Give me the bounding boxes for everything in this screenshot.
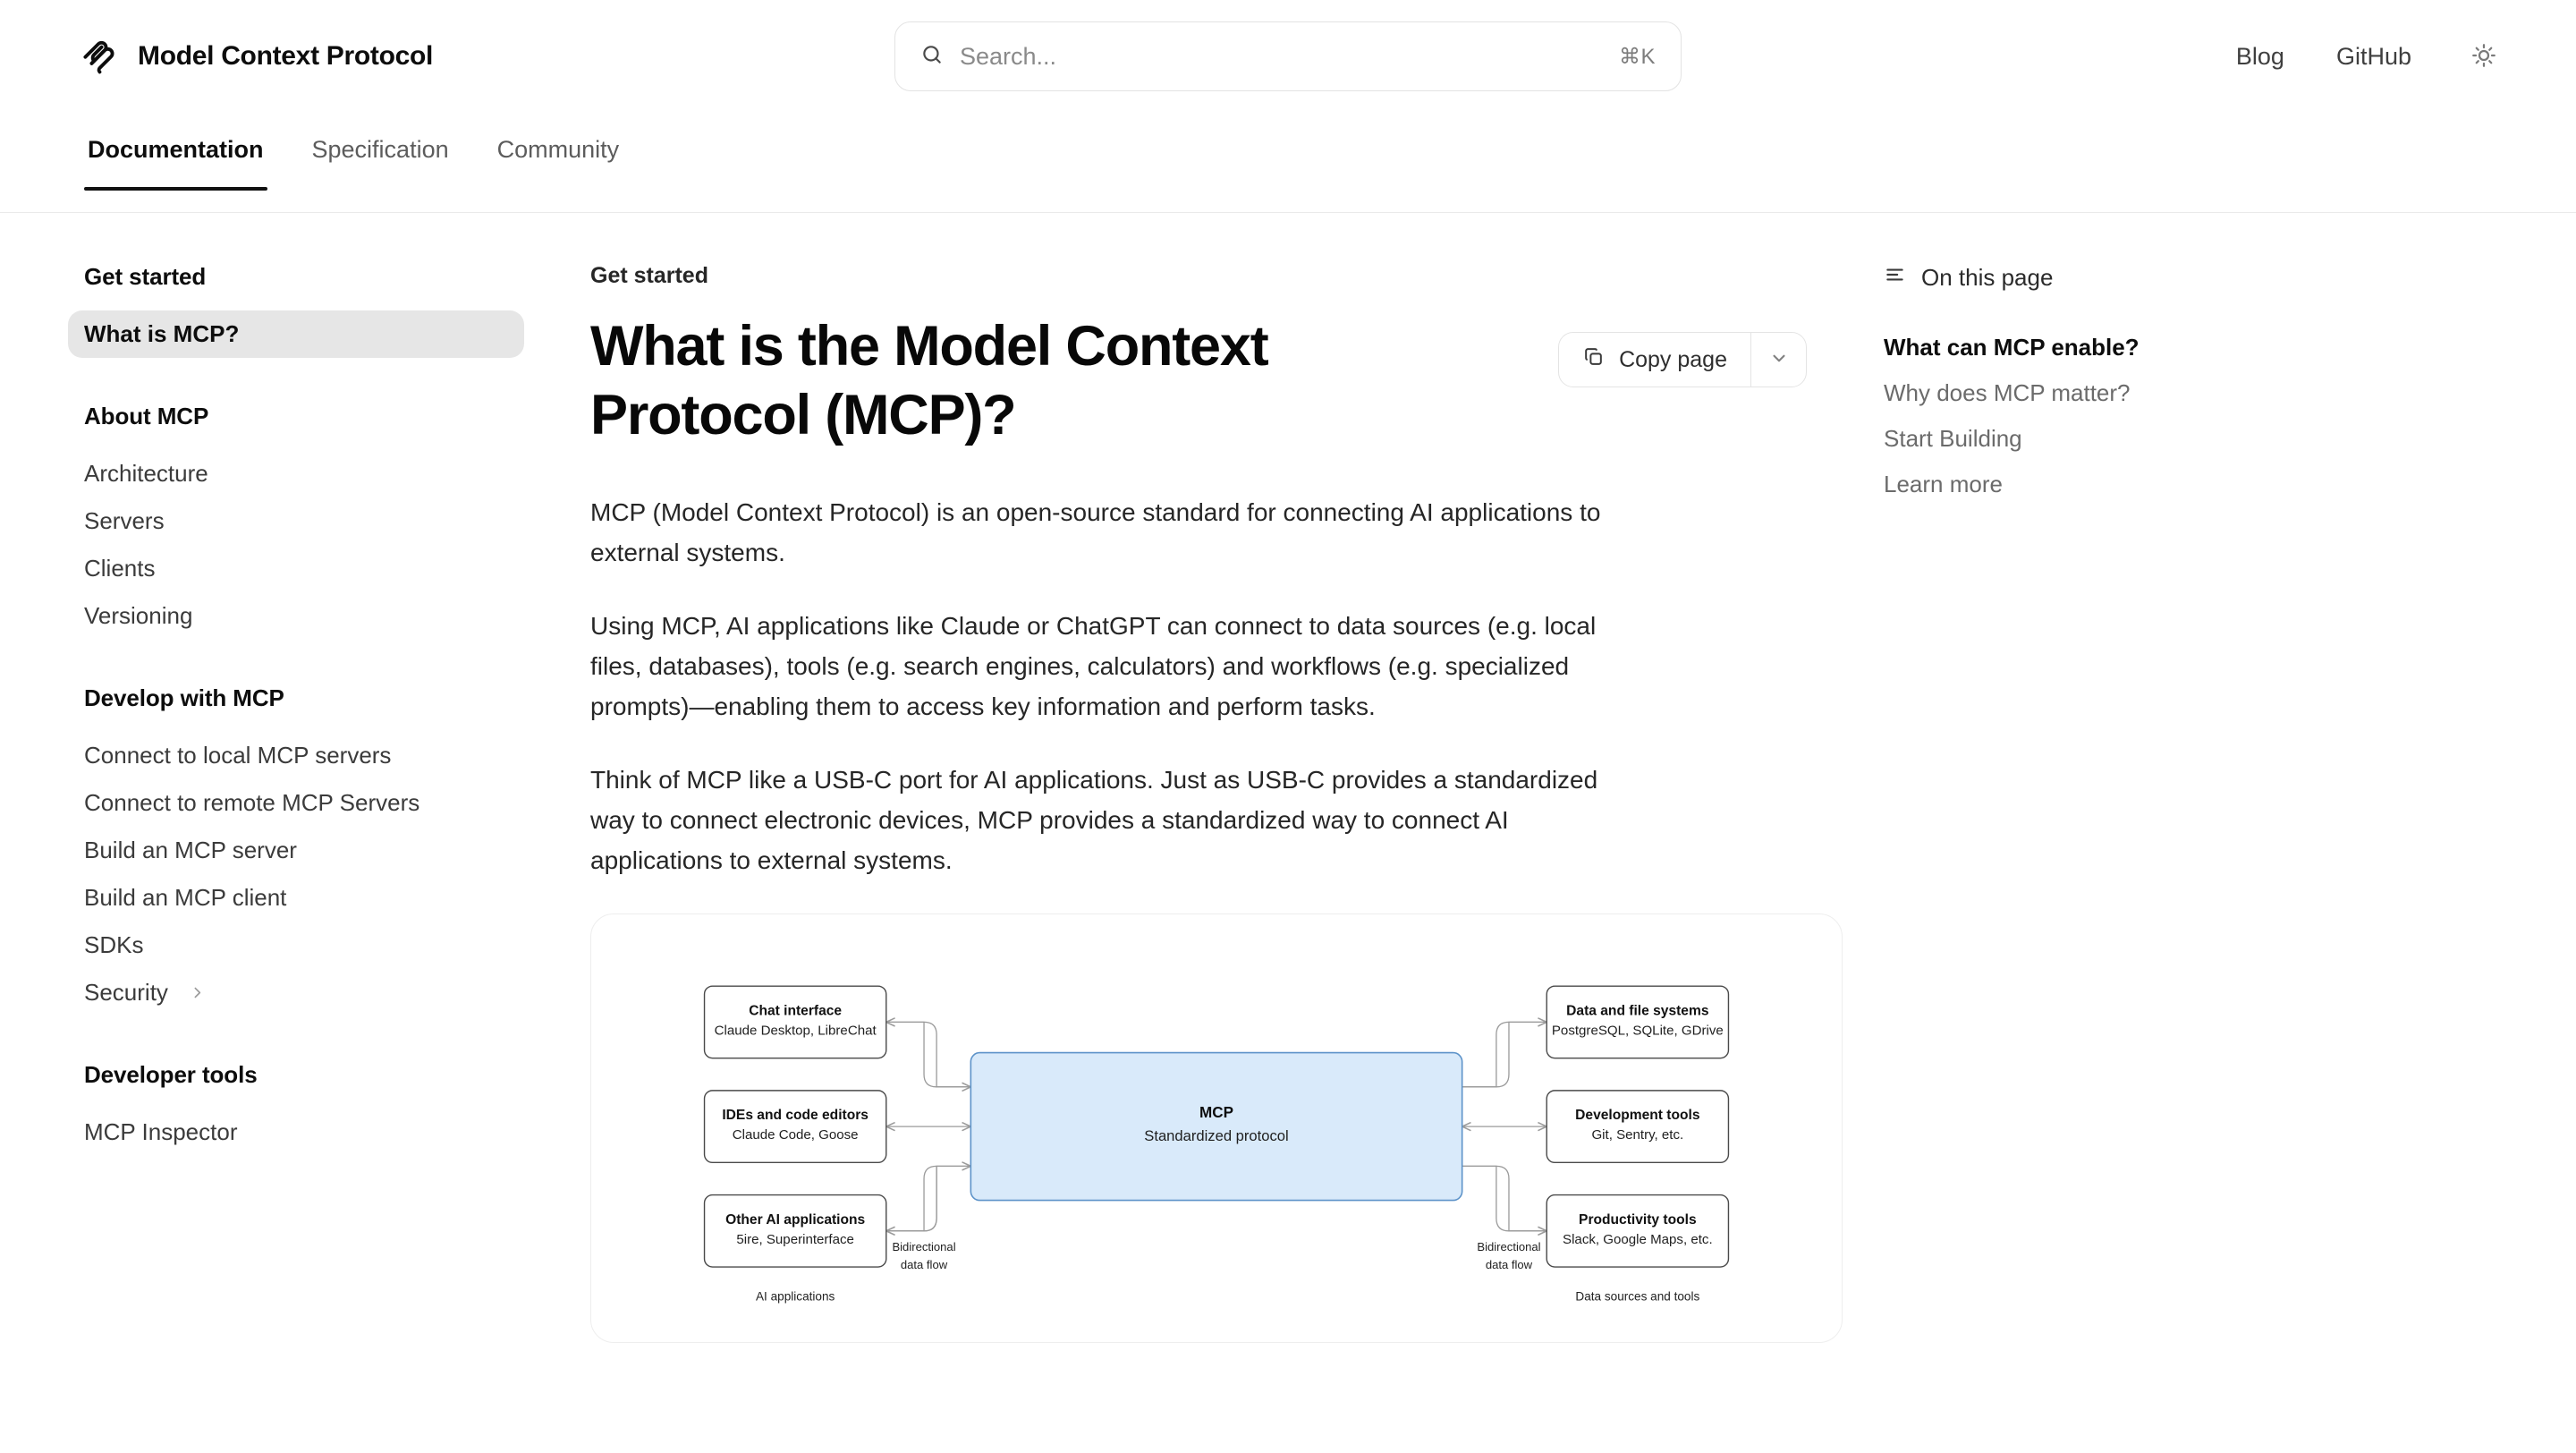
- main-content: Get started What is the Model Context Pr…: [590, 263, 1860, 1453]
- search-input[interactable]: [960, 43, 1603, 71]
- search-box[interactable]: ⌘K: [894, 21, 1682, 91]
- diagram-right-caption: Data sources and tools: [1575, 1289, 1699, 1303]
- mcp-logo-icon: [80, 36, 122, 77]
- diagram-left-box-1: Chat interface Claude Desktop, LibreChat: [705, 986, 886, 1058]
- copy-page-button[interactable]: Copy page: [1559, 333, 1750, 387]
- flow-label-right-line2: data flow: [1486, 1258, 1533, 1271]
- sidebar-item-security[interactable]: Security: [68, 969, 555, 1016]
- diagram-left-box-2: IDEs and code editors Claude Code, Goose: [705, 1091, 886, 1162]
- diagram-right-box-3: Productivity tools Slack, Google Maps, e…: [1546, 1194, 1728, 1266]
- theme-toggle-button[interactable]: [2463, 36, 2504, 77]
- toc-heading: On this page: [1884, 263, 2326, 293]
- diagram-right-box-1: Data and file systems PostgreSQL, SQLite…: [1546, 986, 1728, 1058]
- sidebar-item-label: Servers: [84, 507, 165, 535]
- toc-item-why-does-mcp-matter[interactable]: Why does MCP matter?: [1884, 370, 2326, 416]
- sidebar-item-label: Architecture: [84, 460, 208, 488]
- sidebar-item-label: Connect to local MCP servers: [84, 742, 391, 769]
- diagram-center-title: MCP: [1199, 1104, 1233, 1121]
- diagram-box-subtitle: Claude Desktop, LibreChat: [715, 1023, 877, 1038]
- title-row: What is the Model Context Protocol (MCP)…: [590, 312, 1807, 451]
- sidebar-group-title: Get started: [84, 263, 555, 291]
- sidebar-item-label: Connect to remote MCP Servers: [84, 789, 419, 817]
- copy-page-group: Copy page: [1558, 332, 1807, 387]
- paragraph-1: MCP (Model Context Protocol) is an open-…: [590, 492, 1610, 574]
- diagram-left-caption: AI applications: [756, 1289, 835, 1303]
- sidebar-item-label: Build an MCP client: [84, 884, 286, 912]
- chevron-right-icon[interactable]: [190, 985, 205, 1000]
- primary-tabs: Documentation Specification Community: [0, 113, 2576, 213]
- tab-community[interactable]: Community: [494, 113, 623, 189]
- sidebar-group-develop-with-mcp: Develop with MCP Connect to local MCP se…: [84, 684, 555, 1016]
- paragraph-3: Think of MCP like a USB-C port for AI ap…: [590, 760, 1610, 881]
- search-shortcut-hint: ⌘K: [1619, 44, 1656, 70]
- copy-page-dropdown-button[interactable]: [1750, 333, 1806, 387]
- site-header: Model Context Protocol ⌘K Blog GitHub: [0, 0, 2576, 113]
- sidebar-item-label: Versioning: [84, 602, 192, 630]
- toc-item-what-can-mcp-enable[interactable]: What can MCP enable?: [1884, 325, 2326, 370]
- architecture-diagram: Chat interface Claude Desktop, LibreChat…: [627, 963, 1806, 1343]
- sidebar-item-what-is-mcp[interactable]: What is MCP?: [68, 310, 524, 358]
- toc-item-start-building[interactable]: Start Building: [1884, 416, 2326, 462]
- diagram-box-subtitle: Slack, Google Maps, etc.: [1563, 1232, 1713, 1247]
- sidebar-item-clients[interactable]: Clients: [68, 545, 555, 592]
- sidebar-group-title: Developer tools: [84, 1061, 555, 1089]
- search-icon: [920, 43, 944, 71]
- diagram-box-title: Other AI applications: [725, 1212, 865, 1228]
- on-this-page-toc: On this page What can MCP enable? Why do…: [1860, 263, 2326, 1453]
- article-body: MCP (Model Context Protocol) is an open-…: [590, 492, 1807, 881]
- sidebar-item-label: What is MCP?: [84, 320, 239, 348]
- sidebar-group-get-started: Get started What is MCP?: [84, 263, 555, 358]
- diagram-box-subtitle: Git, Sentry, etc.: [1591, 1127, 1683, 1143]
- brand-link[interactable]: Model Context Protocol: [80, 36, 433, 77]
- sidebar-group-title: About MCP: [84, 403, 555, 430]
- copy-icon: [1582, 345, 1605, 374]
- sidebar-item-architecture[interactable]: Architecture: [68, 450, 555, 497]
- sidebar-item-connect-local-servers[interactable]: Connect to local MCP servers: [68, 732, 555, 779]
- diagram-box-subtitle: Claude Code, Goose: [733, 1127, 859, 1143]
- header-actions: Blog GitHub: [2236, 0, 2504, 113]
- flow-label-left-line1: Bidirectional: [892, 1240, 955, 1253]
- sidebar-item-build-mcp-client[interactable]: Build an MCP client: [68, 874, 555, 922]
- sidebar-item-connect-remote-servers[interactable]: Connect to remote MCP Servers: [68, 779, 555, 827]
- sidebar-item-label: Clients: [84, 555, 155, 582]
- diagram-box-title: Data and file systems: [1566, 1003, 1709, 1018]
- sidebar-item-servers[interactable]: Servers: [68, 497, 555, 545]
- sidebar-item-sdks[interactable]: SDKs: [68, 922, 555, 969]
- sidebar-group-developer-tools: Developer tools MCP Inspector: [84, 1061, 555, 1156]
- breadcrumb: Get started: [590, 263, 1807, 289]
- diagram-box-title: Productivity tools: [1579, 1212, 1697, 1228]
- diagram-center-box: MCP Standardized protocol: [970, 1052, 1462, 1200]
- chevron-down-icon: [1769, 348, 1789, 372]
- flow-label-right-line1: Bidirectional: [1477, 1240, 1540, 1253]
- sidebar-group-title: Develop with MCP: [84, 684, 555, 712]
- toc-item-learn-more[interactable]: Learn more: [1884, 462, 2326, 507]
- diagram-box-title: IDEs and code editors: [722, 1108, 869, 1123]
- page-title: What is the Model Context Protocol (MCP)…: [590, 312, 1485, 451]
- diagram-box-title: Development tools: [1575, 1108, 1700, 1123]
- diagram-left-box-3: Other AI applications 5ire, Superinterfa…: [705, 1194, 886, 1266]
- flow-label-left-line2: data flow: [901, 1258, 948, 1271]
- header-link-github[interactable]: GitHub: [2336, 43, 2411, 71]
- paragraph-2: Using MCP, AI applications like Claude o…: [590, 606, 1610, 727]
- list-icon: [1884, 263, 1907, 293]
- copy-page-label: Copy page: [1619, 347, 1727, 373]
- sidebar-group-about-mcp: About MCP Architecture Servers Clients V…: [84, 403, 555, 640]
- architecture-diagram-card: Chat interface Claude Desktop, LibreChat…: [590, 913, 1843, 1343]
- page-body: Get started What is MCP? About MCP Archi…: [0, 213, 2576, 1453]
- tab-documentation[interactable]: Documentation: [84, 113, 267, 189]
- sun-icon: [2470, 42, 2497, 72]
- header-link-blog[interactable]: Blog: [2236, 43, 2284, 71]
- sidebar-item-build-mcp-server[interactable]: Build an MCP server: [68, 827, 555, 874]
- tab-specification[interactable]: Specification: [309, 113, 453, 189]
- diagram-right-box-2: Development tools Git, Sentry, etc.: [1546, 1091, 1728, 1162]
- diagram-box-subtitle: 5ire, Superinterface: [736, 1232, 854, 1247]
- diagram-center-subtitle: Standardized protocol: [1144, 1127, 1288, 1144]
- toc-heading-label: On this page: [1921, 264, 2053, 292]
- sidebar-item-versioning[interactable]: Versioning: [68, 592, 555, 640]
- sidebar-item-label: Security: [84, 979, 168, 1007]
- sidebar-item-label: MCP Inspector: [84, 1118, 237, 1146]
- sidebar-item-label: SDKs: [84, 931, 143, 959]
- sidebar-nav: Get started What is MCP? About MCP Archi…: [0, 263, 590, 1453]
- brand-name: Model Context Protocol: [138, 41, 433, 72]
- search-container: ⌘K: [894, 21, 1682, 91]
- sidebar-item-mcp-inspector[interactable]: MCP Inspector: [68, 1109, 555, 1156]
- diagram-box-subtitle: PostgreSQL, SQLite, GDrive: [1552, 1023, 1724, 1038]
- sidebar-item-label: Build an MCP server: [84, 837, 297, 864]
- diagram-box-title: Chat interface: [749, 1003, 842, 1018]
